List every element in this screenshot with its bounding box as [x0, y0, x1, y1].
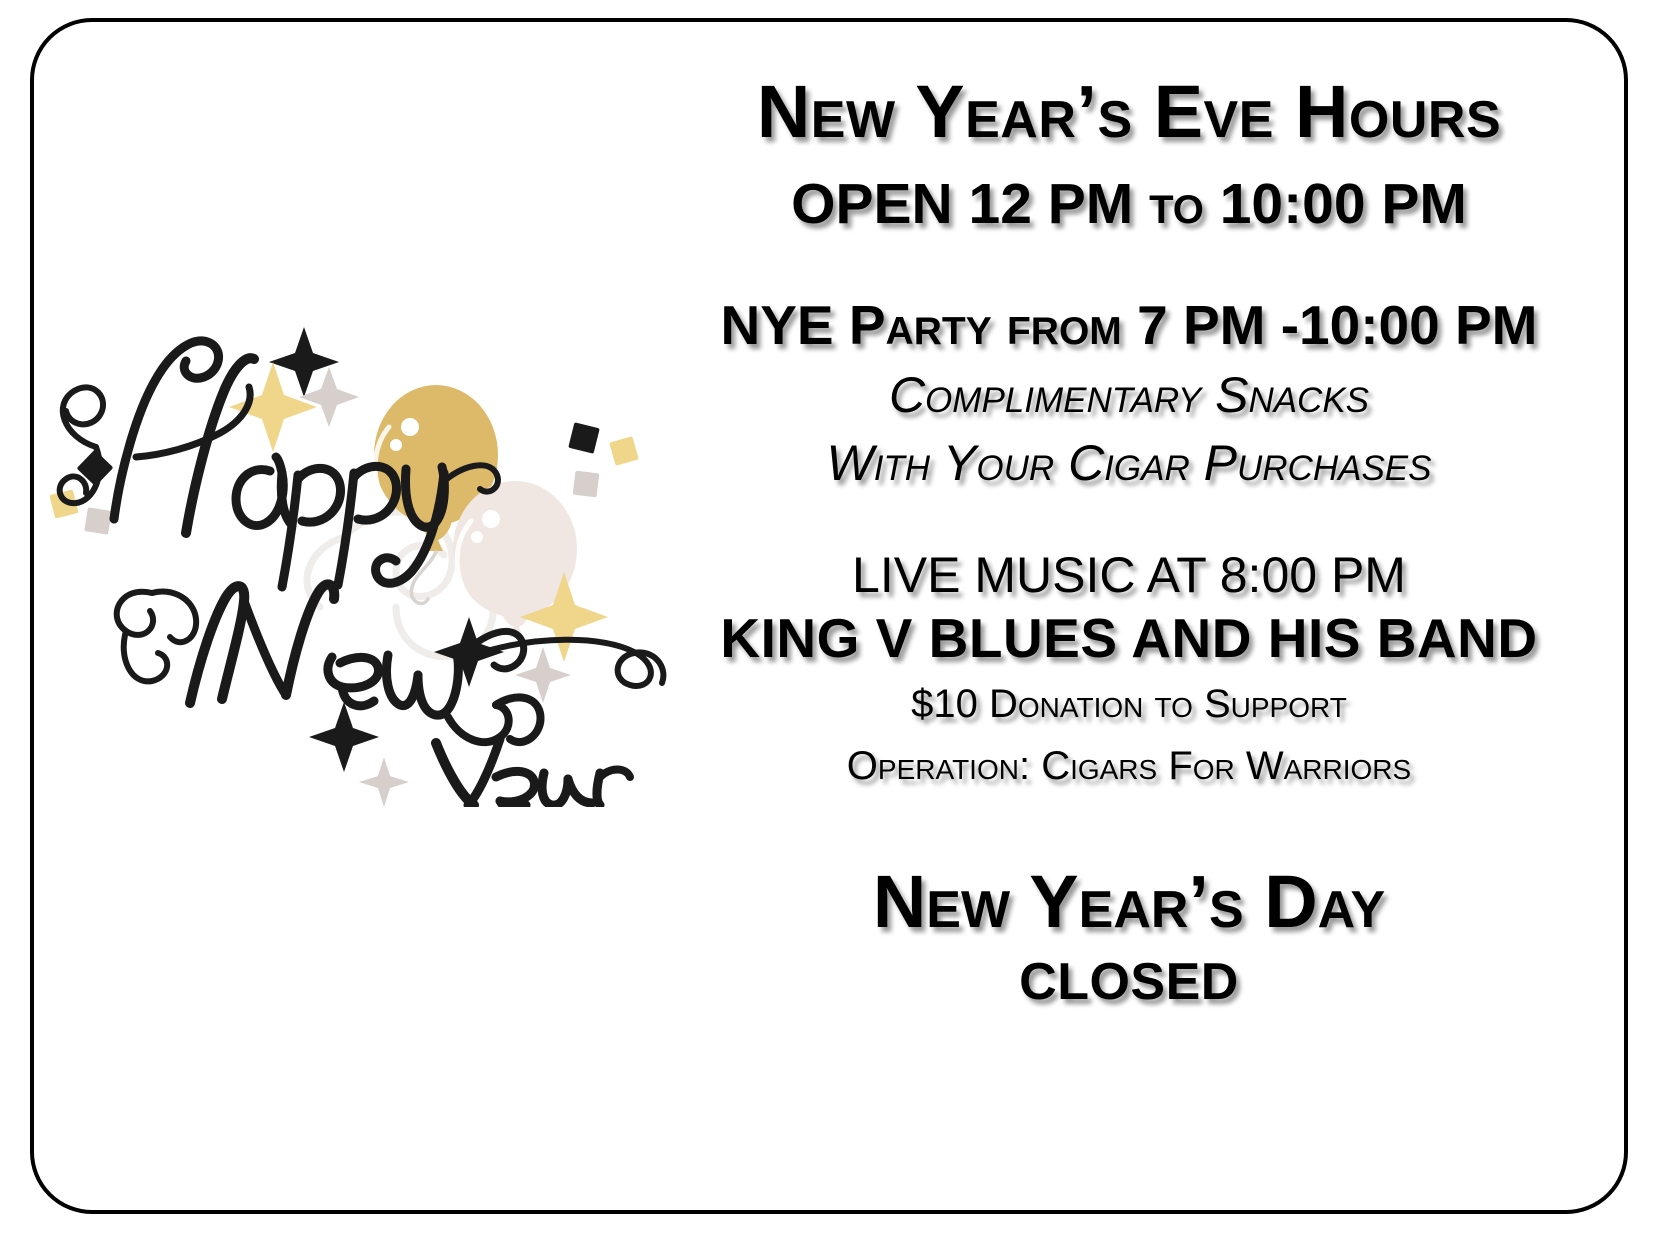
nye-open-hours: OPEN 12 PM to 10:00 PM — [674, 175, 1584, 235]
donation-line-1: $10 Donation to Support — [674, 681, 1584, 728]
spacer-1 — [674, 235, 1584, 297]
spacer-3 — [674, 790, 1584, 864]
new-years-day-status: CLOSED — [674, 955, 1584, 1010]
flyer-text-column: New Year’s Eve Hours OPEN 12 PM to 10:00… — [674, 74, 1584, 1010]
flyer-card: New Year’s Eve Hours OPEN 12 PM to 10:00… — [30, 18, 1628, 1214]
page-title-new-years-day: New Year’s Day — [674, 864, 1584, 939]
nye-party-headline: NYE Party from 7 PM -10:00 PM — [674, 297, 1584, 355]
band-name: KING V BLUES AND HIS BAND — [674, 610, 1584, 668]
live-music-time: LIVE MUSIC AT 8:00 PM — [674, 549, 1584, 602]
donation-line-2: Operation: Cigars For Warriors — [674, 743, 1584, 790]
party-note-line-2: With Your Cigar Purchases — [674, 435, 1584, 491]
page-title-nye-hours: New Year’s Eve Hours — [674, 74, 1584, 149]
party-note-line-1: Complimentary Snacks — [674, 367, 1584, 423]
happy-new-year-artwork — [44, 287, 684, 807]
spacer-2 — [674, 491, 1584, 549]
